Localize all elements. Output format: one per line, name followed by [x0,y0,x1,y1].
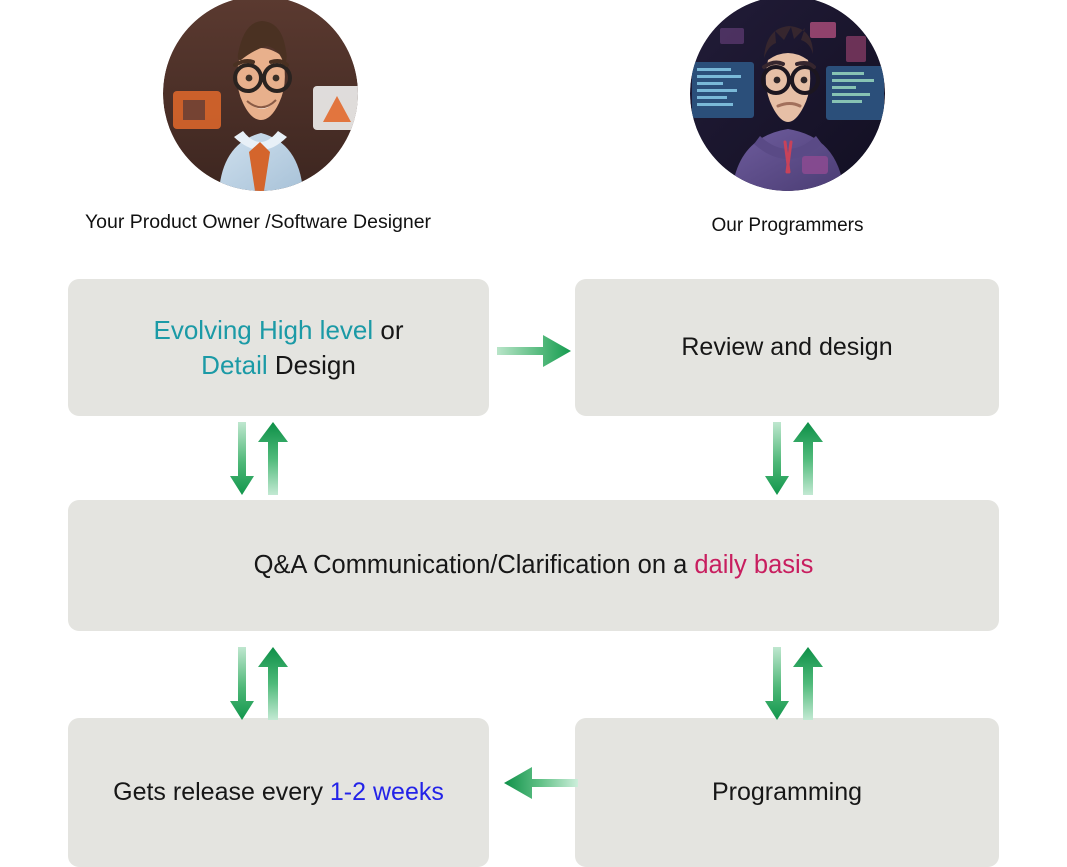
programmers-caption: Our Programmers [690,215,885,237]
box-programming[interactable]: Programming [575,718,999,867]
box-programming-text: Programming [712,776,862,809]
qa-plain: Q&A Communication/Clarification on a [254,551,695,579]
design-line1-highlight: Evolving High level [153,315,373,345]
box-gets-release[interactable]: Gets release every 1-2 weeks [68,718,489,867]
programmers-group: Our Programmers [690,0,885,237]
arrow-programming-to-release [500,757,580,809]
release-plain: Gets release every [113,778,330,806]
arrows-design-to-qa [222,420,296,498]
design-line1-plain: or [373,315,403,345]
release-highlight: 1-2 weeks [330,778,444,806]
box-evolving-design[interactable]: Evolving High level or Detail Design [68,279,489,416]
arrows-qa-to-programming [757,645,831,723]
box-review-and-design[interactable]: Review and design [575,279,999,416]
box-evolving-design-text: Evolving High level or Detail Design [153,313,403,382]
design-line2-highlight: Detail [201,350,267,380]
box-review-and-design-text: Review and design [681,331,892,364]
programmer-avatar [690,0,885,191]
box-qa-communication-text: Q&A Communication/Clarification on a dai… [254,549,814,583]
arrow-design-to-review [495,325,575,377]
qa-highlight: daily basis [694,551,813,579]
arrows-review-to-qa [757,420,831,498]
product-owner-avatar [163,0,358,191]
box-qa-communication[interactable]: Q&A Communication/Clarification on a dai… [68,500,999,631]
arrows-qa-to-release [222,645,296,723]
box-gets-release-text: Gets release every 1-2 weeks [113,776,444,809]
product-owner-caption: Your Product Owner /Software Designer [68,211,448,234]
product-owner-group: Your Product Owner /Software Designer [68,0,448,234]
design-line2-plain: Design [268,350,356,380]
